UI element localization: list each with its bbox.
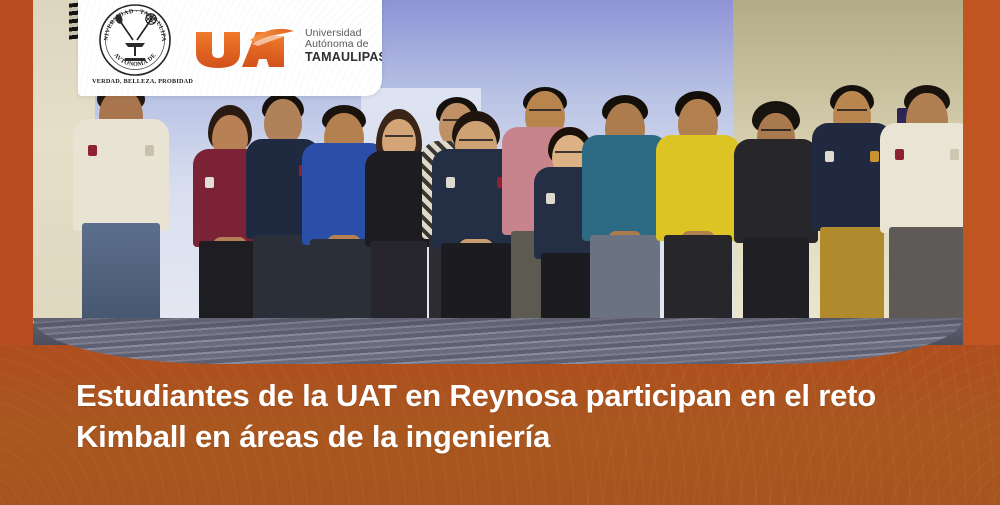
- uat-logo-badge: [145, 145, 154, 156]
- uat-line-tamaulipas: TAMAULIPAS: [305, 51, 382, 64]
- person-11: [655, 91, 741, 323]
- uat-wordmark-text: Universidad Autónoma de TAMAULIPAS: [305, 28, 382, 64]
- person-1: [71, 77, 171, 323]
- eyeglasses-icon: [837, 109, 867, 116]
- person-12: [733, 101, 819, 323]
- torso: [880, 123, 963, 233]
- people-group: [33, 73, 963, 323]
- legs: [590, 235, 660, 323]
- torso: [734, 139, 818, 243]
- logo-card: UNIVERSIDAD · TAMAULIPAS AVTONOMA DE: [78, 0, 382, 96]
- legs: [664, 235, 732, 323]
- eyeglasses-icon: [761, 129, 791, 136]
- legs: [820, 227, 884, 323]
- decorative-striped-band: [33, 318, 963, 364]
- legs: [743, 237, 809, 323]
- eyeglasses-icon: [385, 135, 413, 142]
- orange-rail-right: [963, 0, 1000, 345]
- headline-line-2: en áreas de la ingeniería: [195, 419, 550, 454]
- uat-logo-badge: [950, 149, 959, 160]
- headline: Estudiantes de la UAT en Reynosa partici…: [76, 376, 956, 458]
- legs: [82, 223, 160, 323]
- uat-logo-badge: [546, 193, 555, 204]
- seal-motto: VERDAD, BELLEZA, PROBIDAD: [92, 78, 178, 85]
- uat-logo-badge: [205, 177, 214, 188]
- university-seal: UNIVERSIDAD · TAMAULIPAS AVTONOMA DE: [92, 0, 178, 93]
- uat-wordmark: Universidad Autónoma de TAMAULIPAS: [192, 22, 382, 70]
- news-banner-card: UNIVERSIDAD · TAMAULIPAS AVTONOMA DE: [0, 0, 1000, 505]
- uat-acronym-logo: [192, 22, 296, 70]
- uat-crest-badge: [88, 145, 97, 156]
- uat-crest-badge: [870, 151, 879, 162]
- band-shadow: [33, 318, 963, 364]
- orange-rail-left: [0, 0, 33, 345]
- legs: [371, 241, 427, 323]
- eyeglasses-icon: [529, 109, 561, 116]
- uat-line-autonoma: Autónoma de: [305, 39, 382, 50]
- uat-crest-badge: [895, 149, 904, 160]
- torso: [656, 135, 740, 241]
- eyeglasses-icon: [459, 139, 493, 146]
- uat-logo-badge: [446, 177, 455, 188]
- person-14: [879, 83, 963, 323]
- legs: [889, 227, 963, 323]
- uat-logo-badge: [825, 151, 834, 162]
- torso: [73, 119, 169, 231]
